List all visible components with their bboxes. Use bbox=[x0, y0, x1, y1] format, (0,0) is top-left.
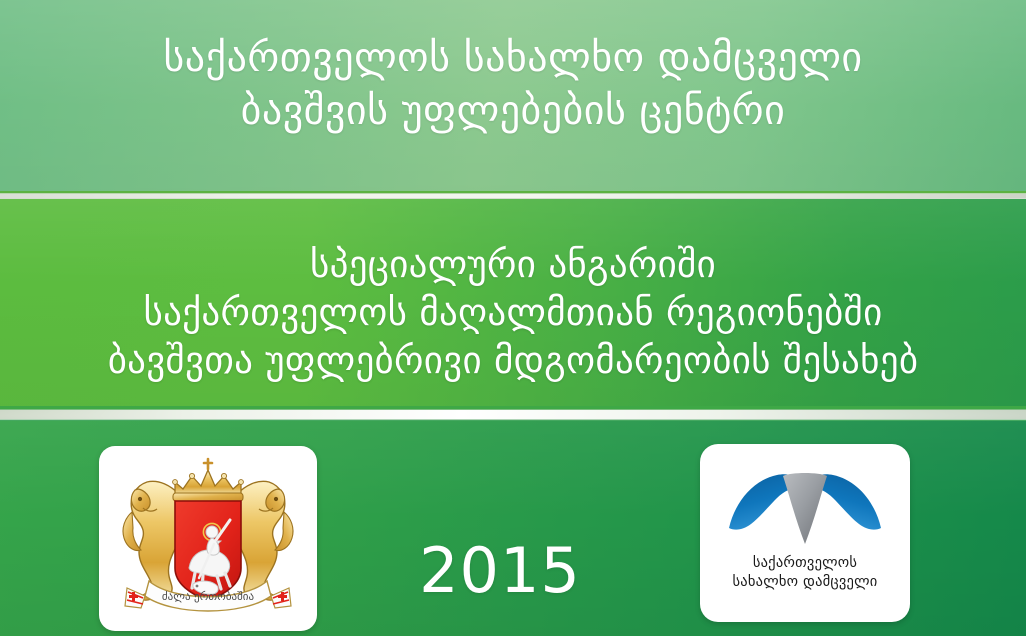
coat-of-arms-motto: ძალა ერთობაშია bbox=[162, 590, 255, 603]
report-subtitle-line-2: საქართველოს მაღალმთიან რეგიონებში bbox=[0, 289, 1026, 337]
report-subtitle: სპეციალური ანგარიში საქართველოს მაღალმთი… bbox=[0, 241, 1026, 385]
report-subtitle-line-1: სპეციალური ანგარიში bbox=[0, 241, 1026, 289]
organization-title-line-2: ბავშვის უფლებების ცენტრი bbox=[0, 85, 1026, 138]
public-defender-bird-logo-icon bbox=[725, 466, 885, 548]
organization-title: საქართველოს სახალხო დამცველი ბავშვის უფლ… bbox=[0, 32, 1026, 138]
report-year: 2015 bbox=[380, 538, 620, 604]
coat-of-arms-card: ძალა ერთობაშია bbox=[99, 446, 317, 631]
shield-with-saint-george bbox=[175, 501, 241, 601]
band-divider-bottom-highlight bbox=[0, 410, 1026, 419]
report-cover-poster: საქართველოს სახალხო დამცველი ბავშვის უფლ… bbox=[0, 0, 1026, 636]
coat-of-arms-of-georgia-icon: ძალა ერთობაშია bbox=[113, 456, 303, 622]
crown-icon bbox=[173, 459, 244, 501]
band-divider-top-highlight bbox=[0, 194, 1026, 198]
header-band: საქართველოს სახალხო დამცველი ბავშვის უფლ… bbox=[0, 0, 1026, 195]
public-defender-logo-text-line-2: სახალხო დამცველი bbox=[700, 573, 910, 592]
public-defender-logo-text-line-1: საქართველოს bbox=[700, 554, 910, 573]
report-subtitle-line-3: ბავშვთა უფლებრივი მდგომარეობის შესახებ bbox=[0, 337, 1026, 385]
subtitle-band: სპეციალური ანგარიში საქართველოს მაღალმთი… bbox=[0, 199, 1026, 411]
public-defender-logo-card: საქართველოს სახალხო დამცველი bbox=[700, 444, 910, 622]
organization-title-line-1: საქართველოს სახალხო დამცველი bbox=[0, 32, 1026, 85]
